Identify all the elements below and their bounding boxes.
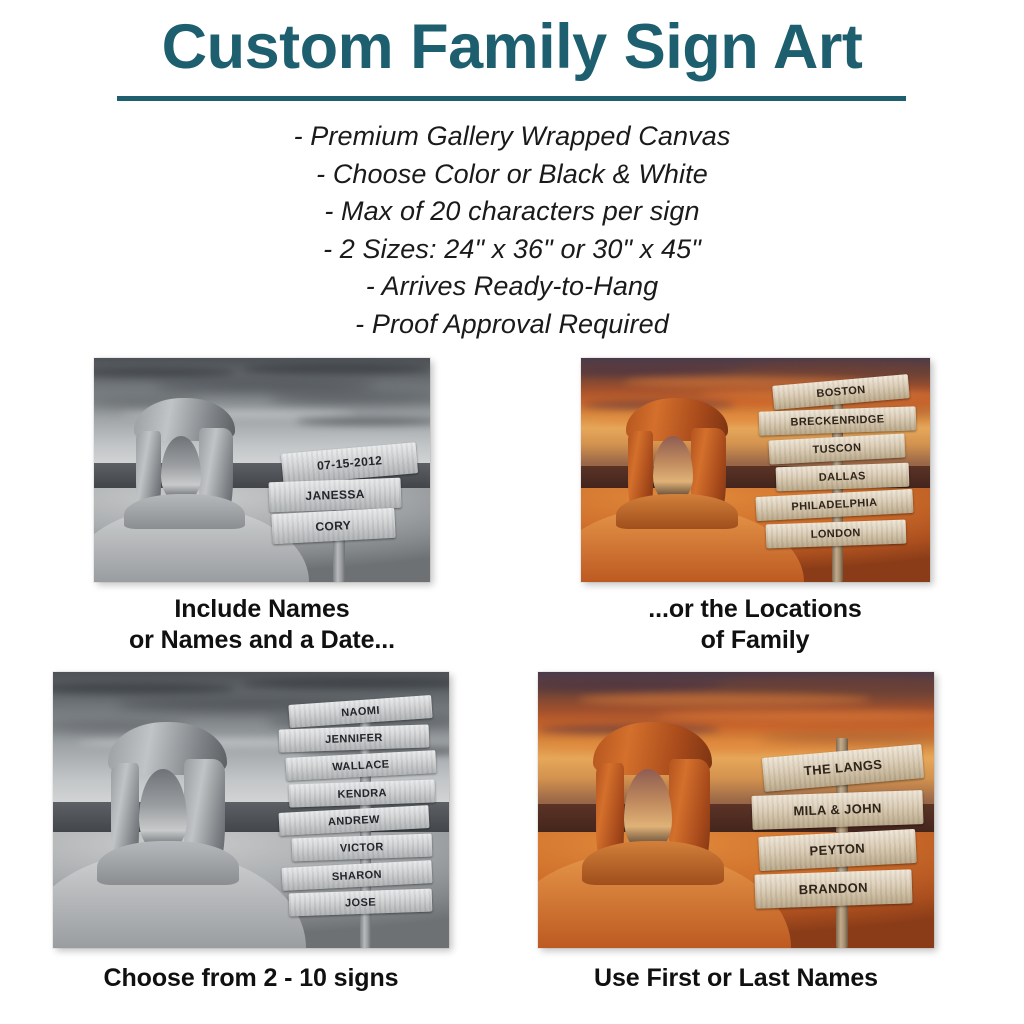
delicate-arch <box>108 722 227 879</box>
sign-board: WALLACE <box>285 750 436 781</box>
sign-board: THE LANGS <box>762 744 925 791</box>
canvas-photo-first-or-last-names: THE LANGS MILA & JOHN PEYTON BRANDON <box>538 672 934 948</box>
canvas-photo-many-signs: NAOMI JENNIFER WALLACE KENDRA ANDREW <box>53 672 449 948</box>
signpost-locations: BOSTON BRECKENRIDGE TUSCON DALLAS PHILAD… <box>756 380 931 582</box>
sign-board: TUSCON <box>769 433 906 464</box>
sample-caption-many-signs: Choose from 2 - 10 signs <box>49 963 453 994</box>
sign-board: BRANDON <box>755 870 913 909</box>
delicate-arch <box>134 398 235 523</box>
canvas-photo-locations: BOSTON BRECKENRIDGE TUSCON DALLAS PHILAD… <box>581 358 930 582</box>
sample-caption-locations: ...or the Locations of Family <box>553 594 957 656</box>
delicate-arch <box>593 722 712 879</box>
canvas-photo-names-and-date: 07-15-2012 JANESSA CORY <box>94 358 430 582</box>
sign-board: JOSE <box>289 888 433 916</box>
sign-board: SHARON <box>282 860 433 891</box>
sign-board: PHILADELPHIA <box>755 489 913 521</box>
sample-caption-first-or-last-names: Use First or Last Names <box>534 963 938 994</box>
sign-board: PEYTON <box>758 829 916 871</box>
signpost-first-or-last-names: THE LANGS MILA & JOHN PEYTON BRANDON <box>752 738 934 948</box>
sign-board: ANDREW <box>278 805 429 836</box>
sign-board: CORY <box>271 508 395 544</box>
sign-board: VICTOR <box>292 834 432 862</box>
sign-board: JENNIFER <box>278 724 429 753</box>
sign-board: NAOMI <box>288 695 432 728</box>
sign-board: DALLAS <box>776 463 909 492</box>
sample-grid: 07-15-2012 JANESSA CORY Include Names or… <box>0 0 1024 1024</box>
signpost-many-signs: NAOMI JENNIFER WALLACE KENDRA ANDREW <box>279 700 449 948</box>
sign-board: KENDRA <box>289 779 436 807</box>
sample-caption-names-and-date: Include Names or Names and a Date... <box>60 594 464 656</box>
signpost-names-and-date: 07-15-2012 JANESSA CORY <box>269 448 430 582</box>
delicate-arch <box>626 398 727 523</box>
sign-board: JANESSA <box>268 478 401 512</box>
sign-board: BRECKENRIDGE <box>759 406 917 436</box>
sign-board: MILA & JOHN <box>751 790 923 830</box>
sign-board: LONDON <box>766 519 906 548</box>
